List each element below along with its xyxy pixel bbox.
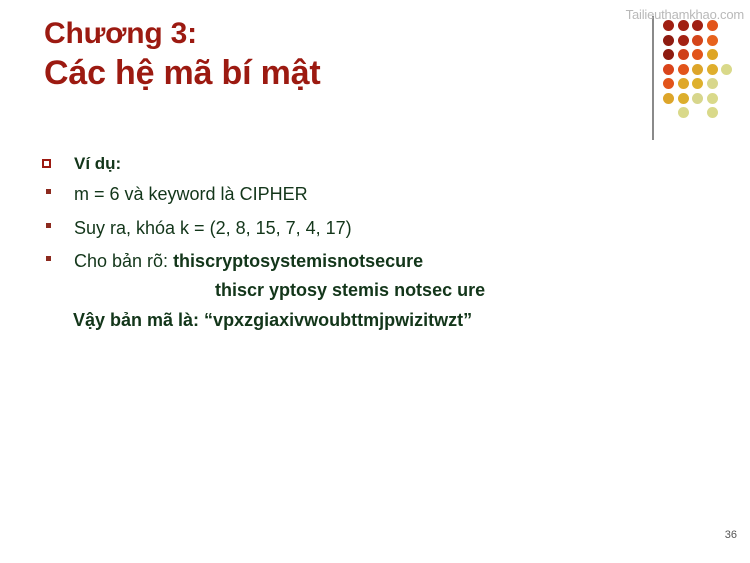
plaintext-row: Cho bản rõ: thiscryptosystemisnotsecure	[74, 249, 702, 273]
list-item: m = 6 và keyword là CIPHER	[42, 182, 702, 206]
ciphertext-line: Vậy bản mã là: “vpxzgiaxivwoubttmjpwizit…	[73, 308, 702, 332]
dot-placeholder	[721, 107, 732, 118]
dot	[678, 107, 689, 118]
page-number: 36	[725, 529, 737, 541]
dot	[707, 93, 718, 104]
list-item-label: Suy ra, khóa k = (2, 8, 15, 7, 4, 17)	[74, 216, 702, 240]
dot	[663, 64, 674, 75]
bullet-column	[42, 182, 74, 194]
dot	[692, 78, 703, 89]
dot-grid	[663, 20, 750, 122]
vertical-divider-line	[652, 16, 654, 140]
watermark-text: Tailieuthamkhao.com	[626, 7, 744, 22]
dot	[663, 78, 674, 89]
dot	[678, 49, 689, 60]
dot-placeholder	[721, 93, 732, 104]
dot-row	[663, 20, 750, 35]
dot-row	[663, 49, 750, 64]
dot-row	[663, 35, 750, 50]
small-square-bullet-icon	[46, 189, 51, 194]
list-item-heading: Ví dụ:	[42, 152, 702, 175]
dot-row	[663, 64, 750, 79]
small-square-bullet-icon	[46, 256, 51, 261]
dot-placeholder	[736, 93, 747, 104]
dot	[721, 35, 732, 46]
dot-placeholder	[736, 49, 747, 60]
plaintext-prefix: Cho bản rõ:	[74, 251, 173, 271]
heading-label: Ví dụ:	[74, 152, 702, 175]
bullet-column	[42, 152, 74, 168]
title-block: Chương 3: Các hệ mã bí mật	[44, 16, 624, 94]
dot-row	[663, 93, 750, 108]
list-item: Suy ra, khóa k = (2, 8, 15, 7, 4, 17)	[42, 216, 702, 240]
plaintext-line: Cho bản rõ: thiscryptosystemisnotsecure	[42, 249, 702, 273]
dot-placeholder	[663, 107, 674, 118]
list-item-label: m = 6 và keyword là CIPHER	[74, 182, 702, 206]
dot	[707, 78, 718, 89]
dot	[692, 93, 703, 104]
dot	[692, 35, 703, 46]
dot	[678, 64, 689, 75]
hollow-square-bullet-icon	[42, 159, 51, 168]
dot-grid-decoration	[648, 14, 750, 144]
dot	[663, 35, 674, 46]
page-title-main: Các hệ mã bí mật	[44, 53, 624, 94]
dot	[707, 64, 718, 75]
dot-placeholder	[721, 78, 732, 89]
dot	[692, 49, 703, 60]
dot-placeholder	[736, 35, 747, 46]
bullet-column	[42, 249, 74, 261]
dot-placeholder	[721, 49, 732, 60]
plaintext-value: thiscryptosystemisnotsecure	[173, 251, 423, 271]
dot-placeholder	[736, 78, 747, 89]
dot	[678, 93, 689, 104]
slide: Tailieuthamkhao.com Chương 3: Các hệ mã …	[0, 0, 750, 563]
dot	[707, 49, 718, 60]
dot-placeholder	[692, 107, 703, 118]
small-square-bullet-icon	[46, 223, 51, 228]
body-content: Ví dụ: m = 6 và keyword là CIPHER Suy ra…	[42, 152, 702, 332]
dot	[678, 78, 689, 89]
dot	[663, 49, 674, 60]
dot	[707, 107, 718, 118]
bullet-column	[42, 216, 74, 228]
dot-row	[663, 78, 750, 93]
page-title-chapter: Chương 3:	[44, 16, 624, 51]
dot-row	[663, 107, 750, 122]
dot-placeholder	[736, 107, 747, 118]
dot	[663, 93, 674, 104]
dot	[721, 64, 732, 75]
dot-placeholder	[736, 64, 747, 75]
dot	[707, 35, 718, 46]
dot	[692, 64, 703, 75]
dot	[678, 35, 689, 46]
grouped-plaintext: thiscr yptosy stemis notsec ure	[215, 278, 702, 302]
